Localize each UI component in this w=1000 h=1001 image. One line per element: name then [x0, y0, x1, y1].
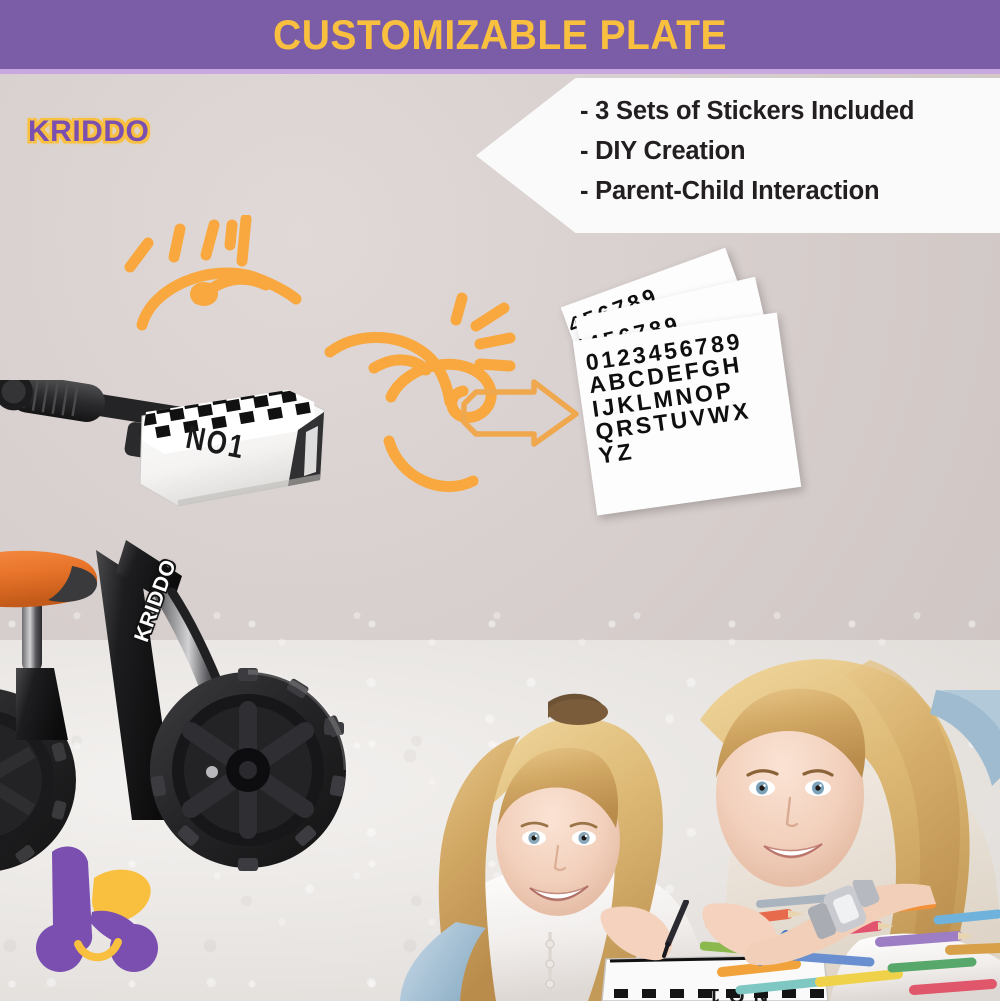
feature-line: - 3 Sets of Stickers Included [580, 95, 1000, 129]
logo-wordmark: KRIDDO [28, 115, 178, 149]
sticker-sheet-front: 0123456789 ABCDEFGH IJKLMNOP QRSTUVWX YZ [573, 313, 801, 516]
page-title: CUSTOMIZABLE PLATE [35, 0, 965, 69]
feature-line: - DIY Creation [580, 135, 1000, 169]
kriddo-k-bike-logo [22, 838, 187, 988]
header-underline [0, 69, 1000, 74]
frame-brand-badge: KRIDDO [101, 556, 211, 646]
product-marketing-image: NO1 KRIDDO [0, 0, 1000, 1001]
hand-with-watch [740, 880, 940, 970]
feature-line: - Parent-Child Interaction [580, 175, 1000, 209]
jeans-detail [930, 690, 1000, 890]
sticker-sheets-stack: 23456789 H 23456789 H 0123456789 ABCDEFG… [570, 272, 805, 522]
frame-brand-text: KRIDDO [130, 557, 182, 646]
feature-list: - 3 Sets of Stickers Included - DIY Crea… [580, 85, 1000, 209]
